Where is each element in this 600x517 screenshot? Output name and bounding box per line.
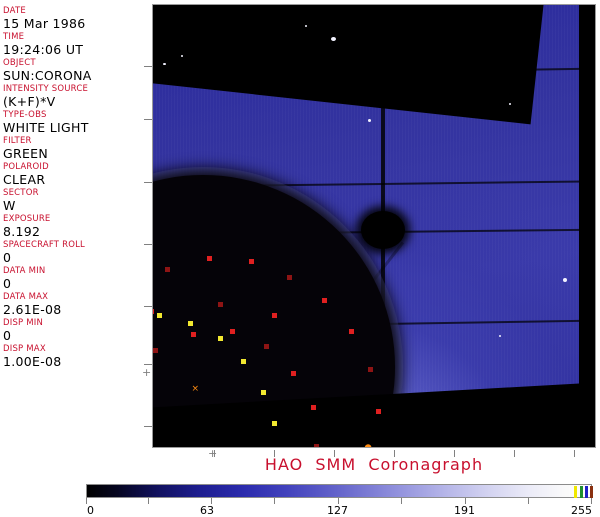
- bright-speck: [181, 55, 183, 57]
- metadata-field: DATA MIN0: [3, 266, 140, 291]
- colorbar-end-band: [590, 486, 593, 498]
- metadata-field: FILTERGREEN: [3, 136, 140, 161]
- axis-tick: [144, 364, 152, 365]
- overlay-marker-red: [218, 302, 223, 307]
- overlay-marker-red: [153, 348, 158, 353]
- overlay-marker-red: [287, 275, 292, 280]
- colorbar-label: 127: [327, 504, 348, 517]
- metadata-value: WHITE LIGHT: [3, 121, 140, 135]
- axis-tick: [144, 426, 152, 427]
- metadata-value: SUN:CORONA: [3, 69, 140, 83]
- metadata-value: (K+F)*V: [3, 95, 140, 109]
- colorbar-label: 191: [454, 504, 475, 517]
- metadata-field: SECTORW: [3, 188, 140, 213]
- bright-speck: [499, 335, 501, 337]
- bright-speck: [509, 103, 511, 105]
- bright-speck: [331, 37, 336, 41]
- overlay-marker-yellow: [157, 313, 162, 318]
- metadata-key: DISP MIN: [3, 318, 140, 329]
- overlay-marker-red: [272, 313, 277, 318]
- plot-title: HAO SMM Coronagraph: [152, 455, 596, 474]
- metadata-value: 1.00E-08: [3, 355, 140, 369]
- overlay-marker-red: [230, 329, 235, 334]
- metadata-value: 2.61E-08: [3, 303, 140, 317]
- metadata-value: GREEN: [3, 147, 140, 161]
- overlay-marker-red: [376, 409, 381, 414]
- overlay-marker-red: [165, 267, 170, 272]
- overlay-marker-red: [191, 332, 196, 337]
- metadata-value: 0: [3, 251, 140, 265]
- colorbar-label: 63: [200, 504, 214, 517]
- overlay-marker-red: [291, 371, 296, 376]
- metadata-key: SPACECRAFT ROLL: [3, 240, 140, 251]
- overlay-marker-red: [264, 344, 269, 349]
- metadata-value: W: [3, 199, 140, 213]
- occulter-hub: [361, 211, 405, 249]
- colorbar-gradient[interactable]: [86, 484, 592, 498]
- overlay-marker-red: [368, 367, 373, 372]
- bright-speck: [163, 63, 166, 65]
- metadata-key: DATA MIN: [3, 266, 140, 277]
- colorbar-end-band: [580, 486, 583, 498]
- overlay-marker-x: ×: [191, 386, 199, 393]
- colorbar-group: 063127191255: [86, 484, 592, 512]
- colorbar-end-band: [585, 486, 588, 498]
- overlay-marker-red: [311, 405, 316, 410]
- overlay-marker-red: [349, 329, 354, 334]
- overlay-marker-red: [207, 256, 212, 261]
- overlay-marker-red: [322, 298, 327, 303]
- metadata-field: SPACECRAFT ROLL0: [3, 240, 140, 265]
- metadata-field: TYPE-OBSWHITE LIGHT: [3, 110, 140, 135]
- overlay-marker-red: [314, 444, 319, 447]
- axis-tick: [144, 244, 152, 245]
- bright-speck: [563, 278, 567, 282]
- metadata-field: DISP MIN0: [3, 318, 140, 343]
- axis-tick: [144, 119, 152, 120]
- colorbar-end-band: [574, 486, 577, 498]
- axis-tick: [144, 66, 152, 67]
- metadata-field: DATA MAX2.61E-08: [3, 292, 140, 317]
- colorbar-labels: 063127191255: [86, 504, 592, 516]
- fov-edge-right: [579, 5, 595, 447]
- overlay-marker-yellow: [261, 390, 266, 395]
- overlay-marker-red: [153, 309, 154, 314]
- metadata-field: INTENSITY SOURCE(K+F)*V: [3, 84, 140, 109]
- overlay-marker-yellow: [272, 421, 277, 426]
- metadata-key: SECTOR: [3, 188, 140, 199]
- metadata-field: EXPOSURE8.192: [3, 214, 140, 239]
- metadata-value: 0: [3, 277, 140, 291]
- axis-tick: [144, 182, 152, 183]
- bright-speck: [368, 119, 371, 122]
- metadata-value: 0: [3, 329, 140, 343]
- colorbar-label: 0: [87, 504, 94, 517]
- metadata-field: DISP MAX1.00E-08: [3, 344, 140, 369]
- metadata-value: 19:24:06 UT: [3, 43, 140, 57]
- metadata-field: DATE15 Mar 1986: [3, 6, 140, 31]
- bright-speck: [305, 25, 307, 27]
- left-axis-ticks: +: [140, 0, 152, 450]
- metadata-field: TIME19:24:06 UT: [3, 32, 140, 57]
- metadata-field: POLAROIDCLEAR: [3, 162, 140, 187]
- overlay-marker-yellow: [188, 321, 193, 326]
- sky-field: ×× +: [153, 5, 595, 447]
- metadata-value: 8.192: [3, 225, 140, 239]
- overlay-marker-yellow: [218, 336, 223, 341]
- coronagraph-image[interactable]: ×× +: [152, 4, 596, 448]
- metadata-panel: DATE15 Mar 1986TIME19:24:06 UTOBJECTSUN:…: [0, 0, 140, 450]
- axis-cross-marker: +: [142, 368, 151, 377]
- axis-tick: [144, 306, 152, 307]
- overlay-marker-yellow: [241, 359, 246, 364]
- metadata-value: CLEAR: [3, 173, 140, 187]
- metadata-value: 15 Mar 1986: [3, 17, 140, 31]
- overlay-marker-red: [249, 259, 254, 264]
- colorbar-label: 255: [571, 504, 592, 517]
- metadata-field: OBJECTSUN:CORONA: [3, 58, 140, 83]
